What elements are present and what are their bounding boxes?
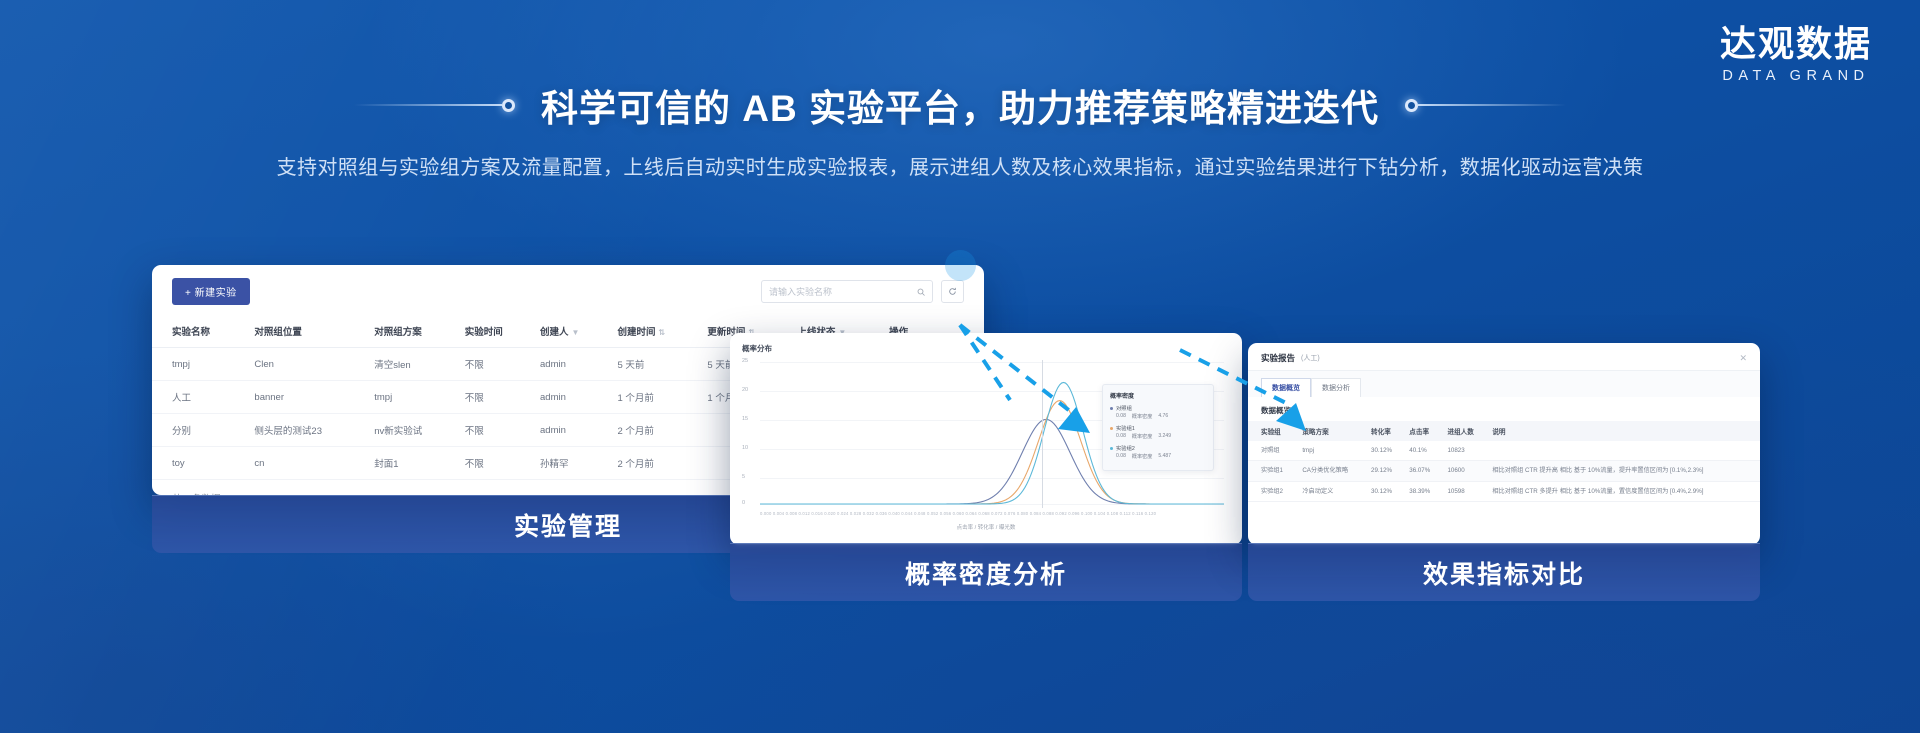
cell-time: 不限: [459, 447, 534, 480]
metrics-header-row: 实验组 策略方案 转化率 点击率 进组人数 说明: [1248, 421, 1760, 441]
col-ctr: 点击率: [1404, 421, 1442, 441]
cell-name: 分别: [152, 414, 248, 447]
chart-plot-area: 25 20 15 10 5 0 概率密度 对照组 0.08概率密度4.76: [742, 356, 1230, 514]
y-tick: 5: [742, 474, 745, 480]
headline-row: 科学可信的 AB 实验平台，助力推荐策略精进迭代: [0, 78, 1920, 132]
tooltip-group: 实验组2 0.08概率密度5.487: [1110, 444, 1206, 460]
tooltip-series-name: 实验组1: [1110, 424, 1206, 432]
cell-ctr: 36.07%: [1404, 461, 1442, 481]
deco-dot-left-icon: [502, 99, 515, 112]
report-title: 实验报告: [1261, 352, 1295, 364]
section-title: 数据概览: [1248, 397, 1760, 421]
search-icon[interactable]: [917, 283, 925, 301]
metrics-table-body: 对照组 tmpj 30.12% 40.1% 10823 实验组1 CA分类优化策…: [1248, 441, 1760, 501]
col-name[interactable]: 实验名称: [152, 315, 248, 348]
cell-pos: banner: [248, 381, 368, 414]
cell-created: 2 个月前: [611, 414, 701, 447]
cell-pos: cn: [248, 447, 368, 480]
cell-time: 不限: [459, 348, 534, 381]
col-note: 说明: [1487, 421, 1760, 441]
cell-group: 实验组1: [1248, 461, 1297, 481]
close-icon[interactable]: ✕: [1739, 353, 1747, 364]
cell-owner: 孙精罕: [534, 447, 611, 480]
tooltip-title: 概率密度: [1110, 391, 1206, 400]
tooltip-series-name: 实验组2: [1110, 444, 1206, 452]
y-tick: 15: [742, 416, 748, 422]
search-placeholder: 请输入实验名称: [769, 285, 832, 298]
cell-users: 10598: [1442, 481, 1487, 501]
brand-logo: 达观数据 DATA GRAND: [1720, 24, 1872, 84]
tooltip-group: 对照组 0.08概率密度4.76: [1110, 404, 1206, 420]
card-label-density-analysis: 概率密度分析: [730, 543, 1242, 601]
cell-conversion: 30.12%: [1366, 481, 1404, 501]
legend-swatch-icon: [1110, 427, 1113, 430]
experiment-toolbar: + 新建实验 请输入实验名称: [152, 265, 984, 315]
cell-name: tmpj: [152, 348, 248, 381]
card-metrics-compare[interactable]: 实验报告 (人工) ✕ 数据概览 数据分析 数据概览 实验组 策略方案 转化率 …: [1248, 343, 1760, 598]
cell-conversion: 30.12%: [1366, 441, 1404, 461]
cell-pos: Clen: [248, 348, 368, 381]
col-owner[interactable]: 创建人▼: [534, 315, 611, 348]
col-conversion: 转化率: [1366, 421, 1404, 441]
table-row[interactable]: 实验组1 CA分类优化策略 29.12% 36.07% 10600 相比对照组 …: [1248, 461, 1760, 481]
col-exp-time[interactable]: 实验时间: [459, 315, 534, 348]
tab-overview[interactable]: 数据概览: [1261, 378, 1311, 397]
cell-users: 10600: [1442, 461, 1487, 481]
col-created[interactable]: 创建时间⇅: [611, 315, 701, 348]
table-row[interactable]: 实验组2 冷启动定义 30.12% 38.39% 10598 相比对照组 CTR…: [1248, 481, 1760, 501]
cell-group: 实验组2: [1248, 481, 1297, 501]
page-title: 科学可信的 AB 实验平台，助力推荐策略精进迭代: [541, 78, 1379, 132]
headline-deco-right: [1405, 99, 1566, 112]
cell-conversion: 29.12%: [1366, 461, 1404, 481]
cell-plan: CA分类优化策略: [1297, 461, 1366, 481]
chart-title: 概率分布: [742, 343, 1230, 354]
metrics-compare-screenshot[interactable]: 实验报告 (人工) ✕ 数据概览 数据分析 数据概览 实验组 策略方案 转化率 …: [1248, 343, 1760, 545]
deco-line-right: [1418, 104, 1566, 106]
y-tick: 0: [742, 500, 745, 506]
y-tick: 25: [742, 358, 748, 364]
cell-pos: 侧头层的测试23: [248, 414, 368, 447]
headline-deco-left: [354, 99, 515, 112]
cell-plan: 清空slen: [368, 348, 458, 381]
cell-created: 2 个月前: [611, 447, 701, 480]
legend-swatch-icon: [1110, 447, 1113, 450]
x-axis-title: 点击率 / 转化率 / 曝光数: [742, 523, 1230, 531]
x-tick-labels: 0.000 0.004 0.008 0.012 0.016 0.020 0.02…: [760, 511, 1224, 516]
report-panel-header: 实验报告 (人工) ✕: [1248, 343, 1760, 371]
deco-line-left: [354, 104, 502, 106]
cell-time: 不限: [459, 381, 534, 414]
brand-name-cn: 达观数据: [1720, 24, 1872, 64]
cell-owner: admin: [534, 414, 611, 447]
tooltip-group: 实验组1 0.08概率密度3.249: [1110, 424, 1206, 440]
col-group: 实验组: [1248, 421, 1297, 441]
tab-analysis[interactable]: 数据分析: [1311, 378, 1361, 397]
refresh-icon[interactable]: [941, 280, 964, 303]
card-density-analysis[interactable]: 概率分布 25 20 15 10 5 0: [730, 333, 1242, 598]
filter-icon[interactable]: ▼: [572, 328, 580, 337]
screenshot-stage: + 新建实验 请输入实验名称: [0, 255, 1920, 655]
toolbar-right-group: 请输入实验名称: [761, 280, 964, 303]
col-users: 进组人数: [1442, 421, 1487, 441]
legend-swatch-icon: [1110, 407, 1113, 410]
report-subtitle: (人工): [1301, 353, 1320, 363]
cell-created: 1 个月前: [611, 381, 701, 414]
cell-users: 10823: [1442, 441, 1487, 461]
cell-time: 不限: [459, 414, 534, 447]
cell-plan: nv新实验试: [368, 414, 458, 447]
cell-note: 相比对照组 CTR 提升高 相比 基于 10%流量，提升率置信区间为 [0.1%…: [1487, 461, 1760, 481]
cell-ctr: 40.1%: [1404, 441, 1442, 461]
cell-owner: admin: [534, 348, 611, 381]
chart-tooltip: 概率密度 对照组 0.08概率密度4.76 实验组1 0.08概率密度3.249…: [1102, 384, 1214, 471]
cell-group: 对照组: [1248, 441, 1297, 461]
card-label-metrics-compare: 效果指标对比: [1248, 543, 1760, 601]
tooltip-series-name: 对照组: [1110, 404, 1206, 412]
y-tick: 20: [742, 387, 748, 393]
cursor-line: [1042, 360, 1043, 508]
cell-plan: 封面1: [368, 447, 458, 480]
cell-plan: 冷启动定义: [1297, 481, 1366, 501]
tooltip-series-row: 0.08概率密度4.76: [1110, 413, 1206, 420]
col-plan: 策略方案: [1297, 421, 1366, 441]
search-input[interactable]: 请输入实验名称: [761, 280, 933, 303]
col-control-pos[interactable]: 对照组位置: [248, 315, 368, 348]
page-subtitle: 支持对照组与实验组方案及流量配置，上线后自动实时生成实验报表，展示进组人数及核心…: [250, 148, 1670, 188]
cell-name: toy: [152, 447, 248, 480]
report-tabs: 数据概览 数据分析: [1248, 371, 1760, 397]
cell-owner: admin: [534, 381, 611, 414]
density-analysis-screenshot[interactable]: 概率分布 25 20 15 10 5 0: [730, 333, 1242, 545]
tooltip-series-row: 0.08概率密度3.249: [1110, 433, 1206, 440]
cell-name: 人工: [152, 381, 248, 414]
col-control-plan[interactable]: 对照组方案: [368, 315, 458, 348]
table-row[interactable]: 对照组 tmpj 30.12% 40.1% 10823: [1248, 441, 1760, 461]
y-tick: 10: [742, 445, 748, 451]
metrics-table: 实验组 策略方案 转化率 点击率 进组人数 说明 对照组 tmpj 30.12%…: [1248, 421, 1760, 502]
cell-ctr: 38.39%: [1404, 481, 1442, 501]
cell-note: 相比对照组 CTR 多提升 相比 基于 10%流量，置信度置信区间为 [0.4%…: [1487, 481, 1760, 501]
cell-note: [1487, 441, 1760, 461]
cell-created: 5 天前: [611, 348, 701, 381]
deco-dot-right-icon: [1405, 99, 1418, 112]
sort-icon[interactable]: ⇅: [659, 328, 666, 337]
new-experiment-button[interactable]: + 新建实验: [172, 278, 250, 305]
cell-plan: tmpj: [368, 381, 458, 414]
density-chart: 概率分布 25 20 15 10 5 0: [730, 333, 1242, 545]
tooltip-series-row: 0.08概率密度5.487: [1110, 453, 1206, 460]
hotspot-halo: [945, 250, 976, 281]
cell-plan: tmpj: [1297, 441, 1366, 461]
